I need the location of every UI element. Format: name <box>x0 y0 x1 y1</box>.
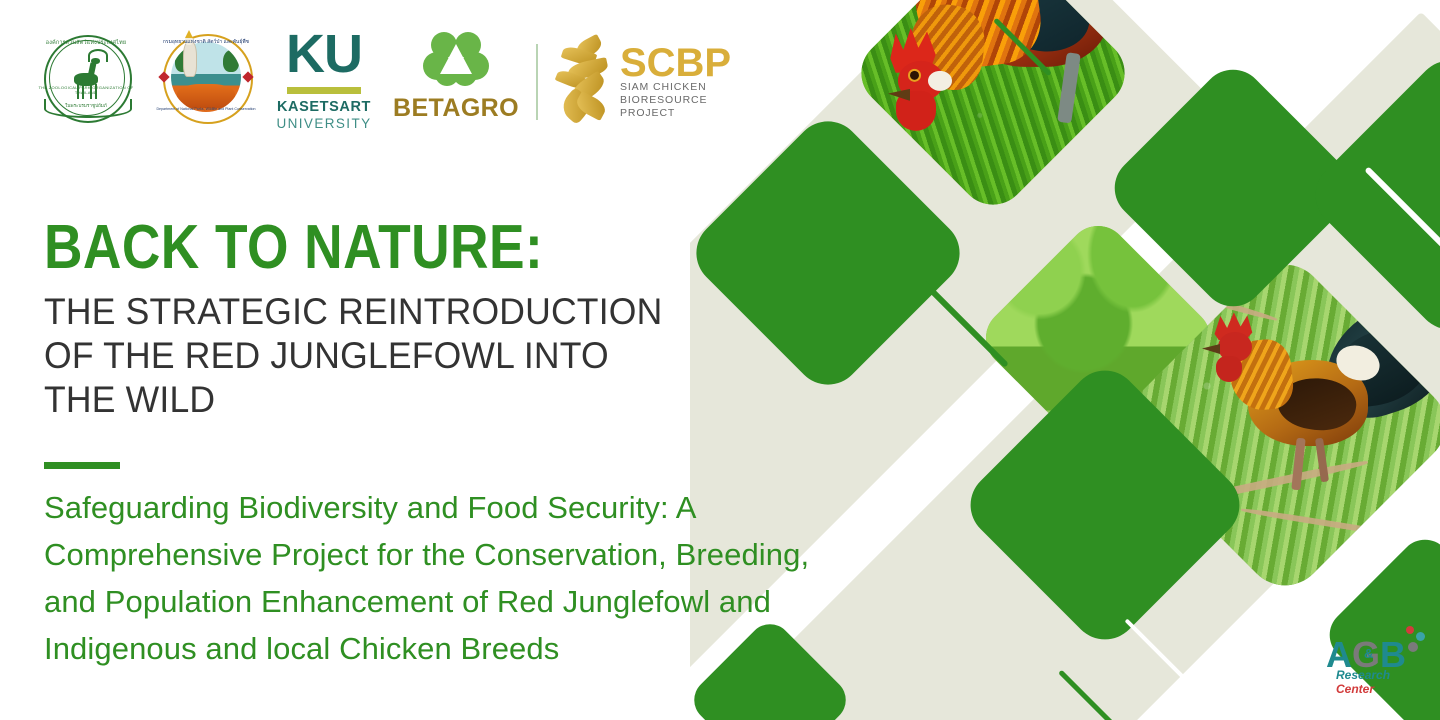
ku-name-line2: UNIVERSITY <box>276 116 372 131</box>
scbp-acronym: SCBP <box>620 45 754 81</box>
paragraph-line-1: Safeguarding Biodiversity and Food Secur… <box>44 484 1044 531</box>
agb-dot-teal <box>1416 632 1425 641</box>
headline-main: BACK TO NATURE: <box>44 218 663 278</box>
scbp-line2: BIORESOURCE PROJECT <box>620 94 754 120</box>
agb-tagline: Research Center <box>1336 668 1430 696</box>
headline-sub-line-2: OF THE RED JUNGLEFOWL INTO <box>44 334 735 378</box>
logo-dnp: กรมอุทยานแห่งชาติ สัตว์ป่า และพันธุ์พืช … <box>154 29 258 135</box>
subtitle-paragraph: Safeguarding Biodiversity and Food Secur… <box>44 484 1044 672</box>
agb-tagline-research: Research <box>1336 668 1390 682</box>
dnp-thai-top: กรมอุทยานแห่งชาติ สัตว์ป่า และพันธุ์พืช <box>154 38 258 46</box>
ku-accent-bar <box>287 87 361 94</box>
logo-agb-research-center: A G B & Research Center <box>1326 634 1430 692</box>
headline-sub-line-3: THE WILD <box>44 378 735 422</box>
agb-tagline-center: Center <box>1336 682 1374 696</box>
rooster-emblem-icon <box>554 39 612 125</box>
ku-name-line1: KASETSART <box>276 99 372 115</box>
scbp-line1: SIAM CHICKEN <box>620 81 754 94</box>
dnp-latin-bottom: Department of National Parks, Wildlife a… <box>154 107 258 111</box>
headline-sub-line-1: THE STRATEGIC REINTRODUCTION <box>44 290 735 334</box>
poster-canvas: องค์การสวนสัตว์แห่งประเทศไทย THE ZOOLOGI… <box>0 0 1440 720</box>
agb-ampersand: & <box>1364 646 1373 661</box>
agb-dot-grey <box>1408 642 1418 652</box>
betagro-wordmark: BETAGRO <box>390 94 522 123</box>
logo-scbp: SCBP SIAM CHICKEN BIORESOURCE PROJECT <box>554 30 754 134</box>
logo-zoological-park: องค์การสวนสัตว์แห่งประเทศไทย THE ZOOLOGI… <box>34 29 138 135</box>
ku-monogram: KU <box>276 27 372 81</box>
partner-logo-row: องค์การสวนสัตว์แห่งประเทศไทย THE ZOOLOGI… <box>34 24 754 140</box>
paragraph-line-2: Comprehensive Project for the Conservati… <box>44 531 1044 578</box>
zpo-thai-top: องค์การสวนสัตว์แห่งประเทศไทย <box>34 39 138 47</box>
agb-dot-red <box>1406 626 1414 634</box>
paragraph-line-3: and Population Enhancement of Red Jungle… <box>44 578 1044 625</box>
dnp-deity-figure <box>183 41 197 77</box>
dnp-deity-crown <box>185 30 193 38</box>
headline-block: BACK TO NATURE: THE STRATEGIC REINTRODUC… <box>44 218 764 422</box>
paragraph-line-4: Indigenous and local Chicken Breeds <box>44 625 1044 672</box>
zpo-thai-bottom: ในพระบรมราชูปถัมภ์ <box>34 103 138 110</box>
dnp-emblem-scene <box>171 42 241 112</box>
logo-divider <box>536 44 538 120</box>
logo-kasetsart: KU KASETSART UNIVERSITY <box>276 27 372 137</box>
betagro-clover-icon <box>423 32 489 92</box>
green-divider-rule <box>44 462 120 469</box>
logo-betagro: BETAGRO <box>390 30 522 134</box>
